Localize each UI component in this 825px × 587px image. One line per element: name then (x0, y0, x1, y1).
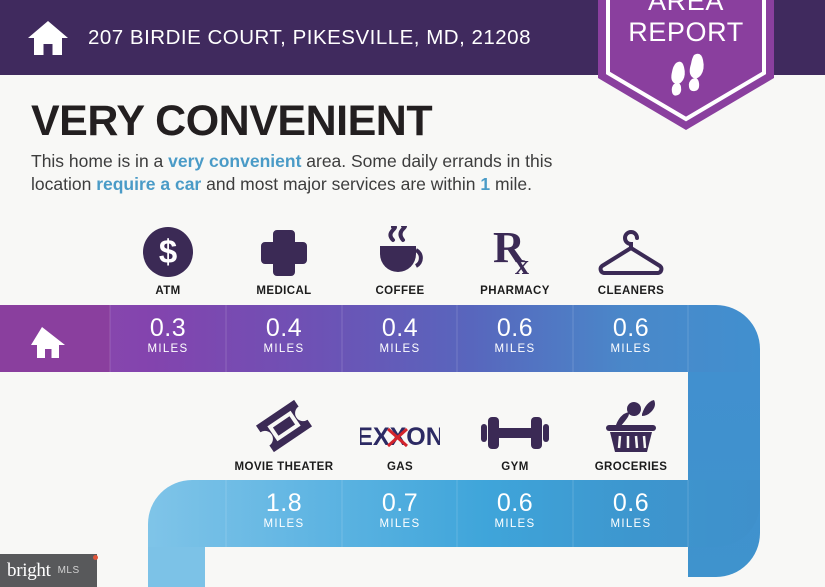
svg-text:$: $ (159, 233, 177, 270)
service-medical: MEDICAL (226, 222, 342, 297)
area-report-infographic: 207 BIRDIE COURT, PIKESVILLE, MD, 21208 … (0, 0, 825, 587)
service-label: MOVIE THEATER (226, 461, 342, 473)
service-label: COFFEE (342, 285, 458, 297)
service-label: MEDICAL (226, 285, 342, 297)
svg-text:x: x (515, 250, 529, 278)
brand-dot-icon (93, 555, 98, 560)
distance-bar-row-1 (0, 305, 760, 372)
desc-part-4: mile. (490, 174, 532, 194)
page-title: VERY CONVENIENT (31, 97, 432, 146)
service-label: CLEANERS (573, 285, 689, 297)
rx-icon: R x (457, 222, 573, 278)
distance-bar-row-2 (148, 480, 760, 547)
desc-part-3: and most major services are within (201, 174, 480, 194)
service-label: ATM (110, 285, 226, 297)
desc-part-1: This home is in a (31, 151, 168, 171)
brightmls-logo: bright MLS (0, 554, 97, 587)
home-icon (26, 16, 70, 60)
service-label: GROCERIES (573, 461, 689, 473)
service-pharmacy: R x PHARMACY (457, 222, 573, 297)
service-gym: GYM (457, 398, 573, 473)
bar-tail-column (148, 547, 205, 587)
service-label: GYM (457, 461, 573, 473)
dumbbell-icon (457, 398, 573, 454)
service-cleaners: CLEANERS (573, 222, 689, 297)
property-address: 207 BIRDIE COURT, PIKESVILLE, MD, 21208 (88, 26, 531, 50)
tail-corner-cut (205, 547, 249, 587)
hanger-icon (573, 222, 689, 278)
desc-highlight-convenience: very convenient (168, 151, 301, 171)
brand-name: bright (7, 560, 51, 582)
desc-highlight-distance: 1 (480, 174, 490, 194)
service-gas: EXXON GAS (342, 398, 458, 473)
service-movie-theater: MOVIE THEATER (226, 398, 342, 473)
medical-cross-icon (226, 222, 342, 278)
coffee-cup-icon (342, 222, 458, 278)
ticket-icon (226, 398, 342, 454)
service-groceries: GROCERIES (573, 398, 689, 473)
service-coffee: COFFEE (342, 222, 458, 297)
exxon-logo-icon: EXXON (342, 398, 458, 454)
brand-suffix: MLS (58, 565, 80, 576)
service-atm: $ ATM (110, 222, 226, 297)
shopping-basket-icon (573, 398, 689, 454)
description-text: This home is in a very convenient area. … (31, 150, 591, 195)
dollar-circle-icon: $ (110, 222, 226, 278)
service-label: PHARMACY (457, 285, 573, 297)
service-label: GAS (342, 461, 458, 473)
area-report-badge: AREA REPORT (588, 0, 784, 140)
desc-highlight-car: require a car (96, 174, 201, 194)
